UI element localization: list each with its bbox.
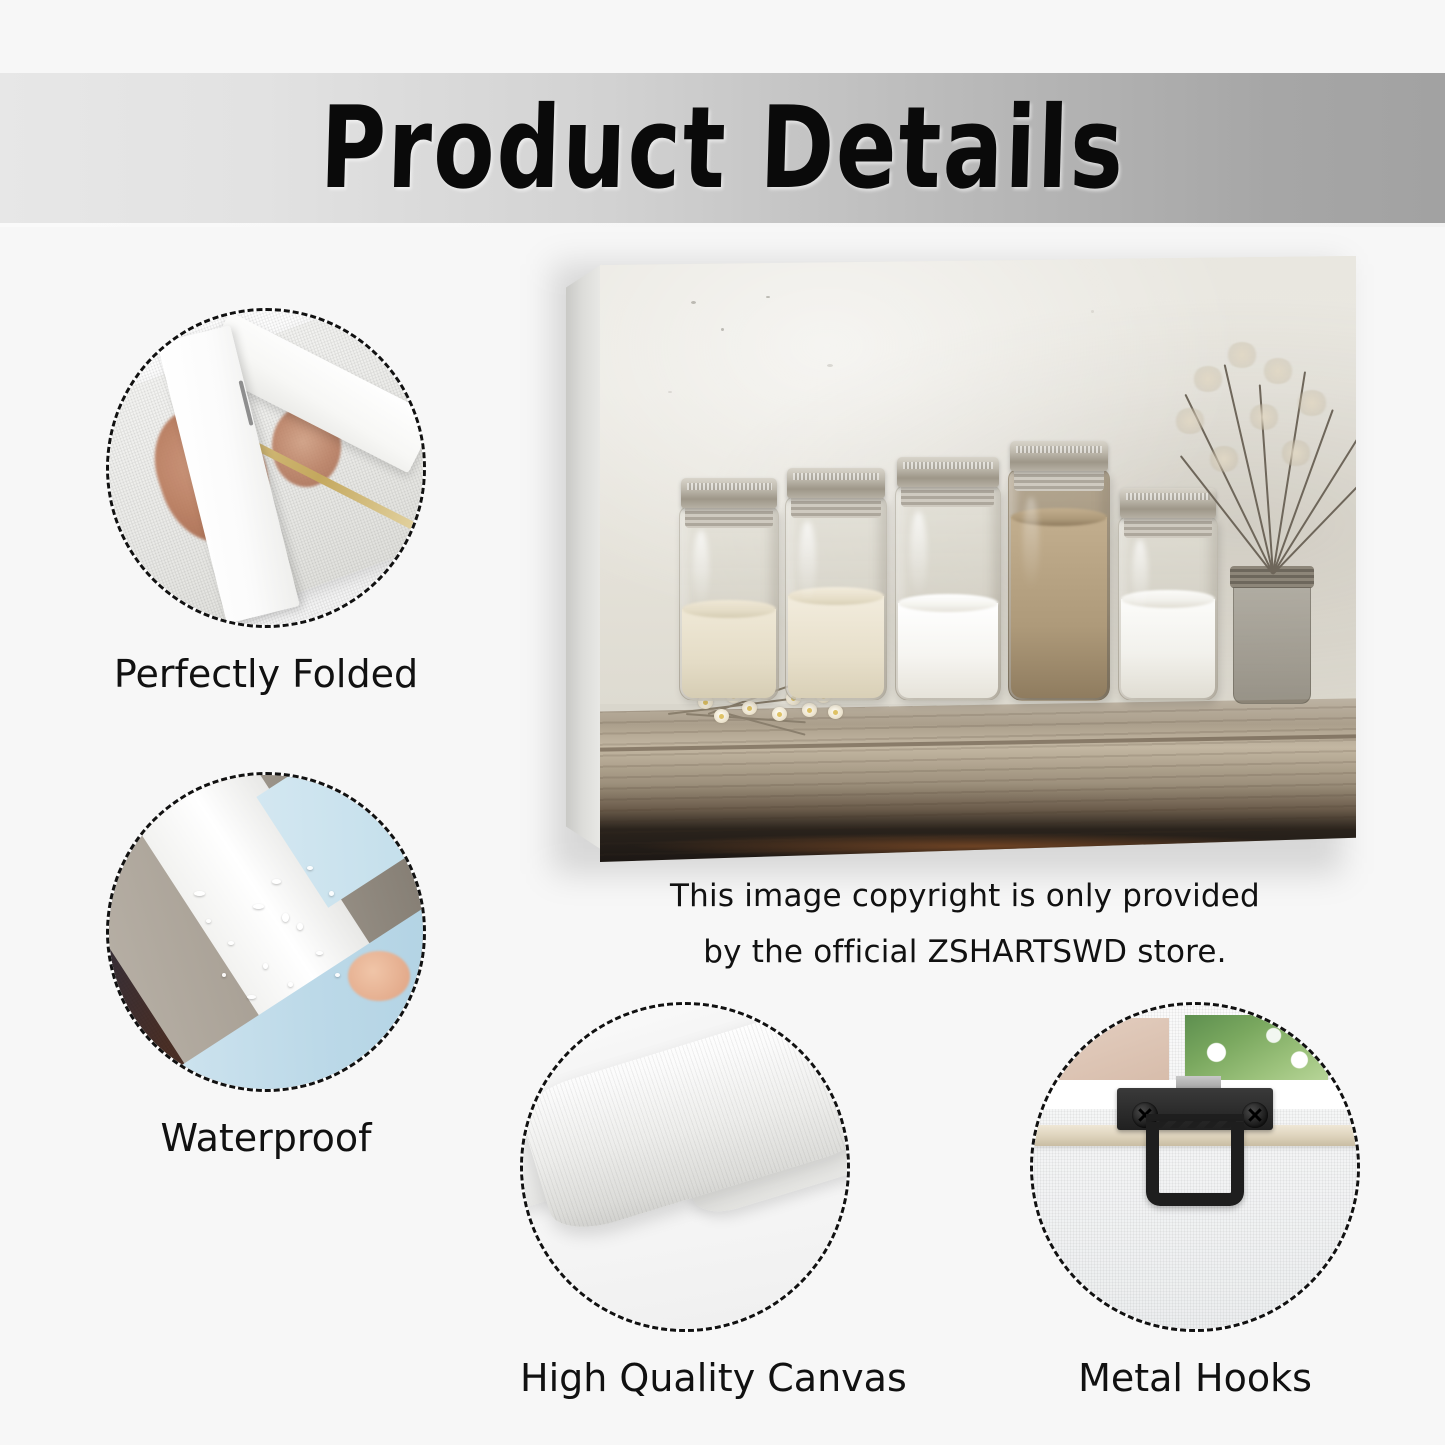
feature-metal-hooks: Metal Hooks xyxy=(1030,1002,1360,1400)
feature-label-perfectly-folded: Perfectly Folded xyxy=(106,652,426,696)
water-droplets-icon xyxy=(106,772,426,1092)
copyright-notice: This image copyright is only provided by… xyxy=(600,868,1330,981)
feature-label-waterproof: Waterproof xyxy=(106,1116,426,1160)
feature-label-metal-hooks: Metal Hooks xyxy=(1030,1356,1360,1400)
droplet-group xyxy=(109,775,423,1089)
canvas-artwork-face xyxy=(600,256,1356,862)
feature-high-quality-canvas: High Quality Canvas xyxy=(520,1002,850,1400)
artwork-dried-branches xyxy=(1233,344,1311,574)
rolled-canvas-icon xyxy=(520,1002,850,1332)
feature-perfectly-folded: Perfectly Folded xyxy=(106,308,426,696)
folded-canvas-corner-icon xyxy=(106,308,426,628)
metal-hook-icon xyxy=(1030,1002,1360,1332)
feature-label-high-quality-canvas: High Quality Canvas xyxy=(520,1356,850,1400)
artwork-jar xyxy=(1008,469,1110,701)
product-canvas-image xyxy=(566,256,1356,866)
artwork-flower-vase xyxy=(1233,574,1311,704)
artwork-jar xyxy=(1118,516,1218,701)
artwork-jar xyxy=(679,506,779,701)
canvas-wrapped-edge xyxy=(566,264,602,850)
copyright-line-1: This image copyright is only provided xyxy=(600,868,1330,924)
copyright-line-2: by the official ZSHARTSWD store. xyxy=(600,924,1330,980)
header-banner: Product Details xyxy=(0,73,1445,223)
feature-waterproof: Waterproof xyxy=(106,772,426,1160)
artwork-jar xyxy=(895,485,1001,701)
artwork-jar xyxy=(785,496,887,701)
page-title: Product Details xyxy=(318,82,1126,214)
